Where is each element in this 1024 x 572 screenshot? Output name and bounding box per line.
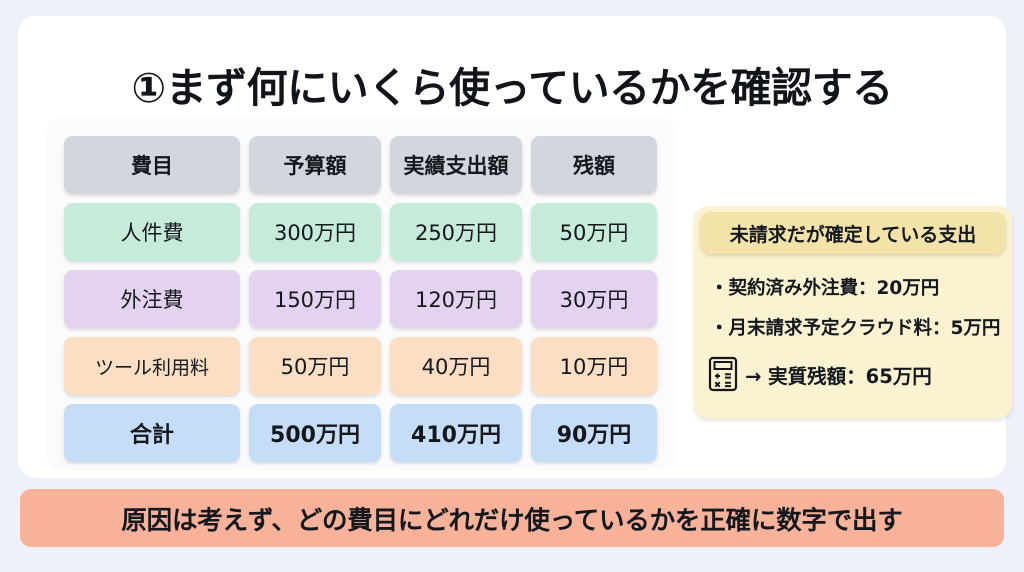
budget-table-panel: 費目 予算額 実績支出額 残額 人件費 300万円 250万円 50万円 外注費…: [46, 118, 676, 470]
unbilled-expenses-panel: 未請求だが確定している支出 ・契約済み外注費：20万円 ・月末請求予定クラウド料…: [694, 206, 1012, 418]
column-header-actual: 実績支出額: [390, 136, 522, 194]
total-remaining: 90万円: [531, 404, 657, 462]
column-header-remaining: 残額: [531, 136, 657, 194]
column-header-item: 費目: [64, 136, 240, 194]
row-remaining: 30万円: [531, 270, 657, 328]
table-row: 人件費 300万円 250万円 50万円: [64, 203, 658, 261]
column-header-budget: 予算額: [249, 136, 381, 194]
content-card: ①まず何にいくら使っているかを確認する 費目 予算額 実績支出額 残額 人件費 …: [18, 16, 1006, 478]
table-header-row: 費目 予算額 実績支出額 残額: [64, 136, 658, 194]
slide-canvas: ①まず何にいくら使っているかを確認する 費目 予算額 実績支出額 残額 人件費 …: [0, 0, 1024, 572]
takeaway-text: 原因は考えず、どの費目にどれだけ使っているかを正確に数字で出す: [121, 500, 902, 537]
panel-bullet-list: ・契約済み外注費：20万円 ・月末請求予定クラウド料：5万円: [710, 274, 1002, 340]
row-actual: 40万円: [390, 337, 522, 395]
row-remaining: 10万円: [531, 337, 657, 395]
effective-remaining-text: → 実質残額：65万円: [745, 360, 932, 389]
table-row: 外注費 150万円 120万円 30万円: [64, 270, 658, 328]
table-total-row: 合計 500万円 410万円 90万円: [64, 404, 658, 462]
budget-table: 費目 予算額 実績支出額 残額 人件費 300万円 250万円 50万円 外注費…: [64, 136, 658, 462]
total-budget: 500万円: [249, 404, 381, 462]
effective-remaining-line: → 実質残額：65万円: [708, 356, 932, 392]
total-label: 合計: [64, 404, 240, 462]
row-label: ツール利用料: [64, 337, 240, 395]
row-budget: 150万円: [249, 270, 381, 328]
row-budget: 50万円: [249, 337, 381, 395]
page-title: ①まず何にいくら使っているかを確認する: [18, 54, 1006, 114]
panel-heading: 未請求だが確定している支出: [700, 212, 1006, 254]
row-budget: 300万円: [249, 203, 381, 261]
list-item: ・月末請求予定クラウド料：5万円: [710, 314, 1002, 340]
list-item: ・契約済み外注費：20万円: [710, 274, 1002, 300]
row-label: 人件費: [64, 203, 240, 261]
row-remaining: 50万円: [531, 203, 657, 261]
total-actual: 410万円: [390, 404, 522, 462]
calculator-icon: [708, 356, 738, 392]
takeaway-banner: 原因は考えず、どの費目にどれだけ使っているかを正確に数字で出す: [20, 489, 1004, 547]
row-actual: 250万円: [390, 203, 522, 261]
table-row: ツール利用料 50万円 40万円 10万円: [64, 337, 658, 395]
row-actual: 120万円: [390, 270, 522, 328]
row-label: 外注費: [64, 270, 240, 328]
